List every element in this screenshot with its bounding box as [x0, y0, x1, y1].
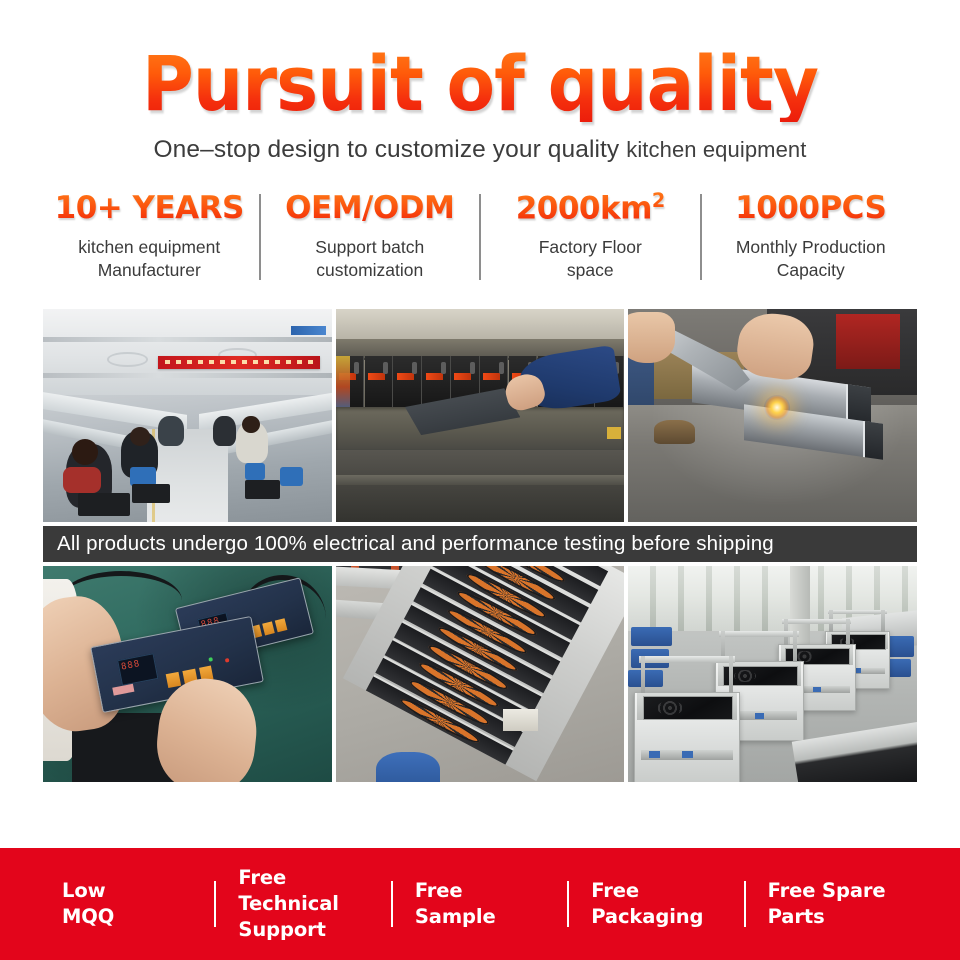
machine-indicator	[607, 427, 621, 440]
stool	[245, 463, 265, 480]
benefit-line1: Free Technical	[238, 865, 390, 918]
stat-desc-line2: Capacity	[708, 259, 915, 282]
benefit-free-packaging[interactable]: Free Packaging	[569, 878, 743, 931]
stat-value-factory-area: 2000km2	[487, 190, 694, 227]
blue-crate	[628, 670, 663, 687]
stat-desc-line1: Factory Floor	[487, 236, 694, 259]
led-display	[117, 653, 159, 686]
stat-years: 10+ YEARS kitchen equipment Manufacturer	[40, 190, 259, 282]
gallery-caption-banner: All products undergo 100% electrical and…	[43, 526, 917, 562]
indicator-led-green	[209, 658, 214, 663]
stat-factory-area: 2000km2 Factory Floor space	[481, 190, 700, 282]
blue-crate	[631, 627, 671, 646]
photo-row-top	[43, 309, 917, 522]
blue-bin	[376, 752, 440, 782]
ceiling-beam	[43, 337, 332, 342]
ceiling-fan-icon	[107, 352, 149, 367]
benefit-free-technical-support[interactable]: Free Technical Support	[216, 865, 390, 944]
benefit-line1: Free Spare	[768, 878, 920, 904]
machine-base	[336, 450, 625, 522]
benefit-line2: Packaging	[591, 904, 743, 930]
stat-desc-factory-area: Factory Floor space	[487, 236, 694, 283]
worker-head	[242, 416, 259, 433]
stat-value-monthly-capacity: 1000PCS	[708, 190, 915, 227]
induction-cooktop-foreground	[792, 721, 917, 783]
tool-clamp	[393, 356, 421, 407]
shelf-post	[881, 610, 885, 635]
stat-value-superscript: 2	[652, 189, 665, 212]
tool-clamp	[365, 356, 393, 407]
overshelf	[639, 656, 735, 662]
photo-finished-induction-cookers	[628, 566, 917, 782]
photo-row-bottom	[43, 566, 917, 782]
parts-crate	[78, 493, 130, 516]
factory-slogan-banner	[158, 356, 320, 369]
overshelf	[828, 610, 886, 614]
subtitle-tail: kitchen equipment	[626, 137, 806, 162]
worker	[158, 416, 184, 446]
photo-press-brake-bending	[336, 309, 625, 522]
benefit-line1: Low	[62, 878, 214, 904]
worker-head	[72, 439, 98, 465]
worker-head	[130, 427, 150, 446]
shelf-post	[846, 619, 850, 648]
benefit-line2: MQQ	[62, 904, 214, 930]
shelf-post	[641, 656, 645, 696]
stat-desc-monthly-capacity: Monthly Production Capacity	[708, 236, 915, 283]
stat-value-number: 2000km	[516, 190, 652, 226]
shelf-post	[729, 656, 733, 696]
weld-spark	[764, 395, 790, 421]
benefit-line2: Parts	[768, 904, 920, 930]
stat-desc-line2: Manufacturer	[46, 259, 253, 282]
stool	[280, 467, 303, 486]
ceiling-beam	[43, 373, 332, 378]
stat-desc-line1: Support batch	[267, 236, 474, 259]
stat-value-years: 10+ YEARS	[46, 190, 253, 227]
stat-desc-line2: space	[487, 259, 694, 282]
stat-desc-line2: customization	[267, 259, 474, 282]
induction-hob-glass	[643, 696, 732, 720]
benefit-line1: Free	[591, 878, 743, 904]
gallery-caption-text: All products undergo 100% electrical and…	[57, 532, 774, 556]
benefit-free-spare-parts[interactable]: Free Spare Parts	[746, 878, 920, 931]
stats-row: 10+ YEARS kitchen equipment Manufacturer…	[40, 190, 920, 282]
stat-value-oem-odm: OEM/ODM	[267, 190, 474, 227]
carton-box	[503, 709, 538, 731]
stat-oem-odm: OEM/ODM Support batch customization	[261, 190, 480, 282]
parts-crate	[245, 480, 280, 499]
wall-sign	[291, 326, 326, 335]
shelf-post	[793, 631, 797, 665]
benefit-free-sample[interactable]: Free Sample	[393, 878, 567, 931]
photo-welding-steel-tube	[628, 309, 917, 522]
welding-clamp	[654, 420, 694, 443]
benefit-line1: Free	[415, 878, 567, 904]
benefit-low-mqq[interactable]: Low MQQ	[40, 878, 214, 931]
benefit-line2: Sample	[415, 904, 567, 930]
photo-induction-coil-line	[336, 566, 625, 782]
background-red-equipment	[836, 314, 900, 369]
hero-section: Pursuit of quality One–stop design to cu…	[0, 0, 960, 164]
control-strip	[641, 750, 732, 760]
subtitle-main: One–stop design to customize your qualit…	[154, 136, 620, 163]
induction-cooker-unit	[634, 692, 740, 783]
benefits-footer-inner: Low MQQ Free Technical Support Free Samp…	[40, 865, 920, 944]
photo-factory-assembly-line	[43, 309, 332, 522]
ceiling	[43, 309, 332, 394]
benefit-line2: Support	[238, 917, 390, 943]
parts-crate	[132, 484, 170, 503]
stat-desc-oem-odm: Support batch customization	[267, 236, 474, 283]
worker-sleeve	[63, 467, 101, 493]
page-subtitle: One–stop design to customize your qualit…	[0, 136, 960, 164]
overshelf	[782, 619, 851, 624]
overshelf	[719, 631, 799, 636]
stat-desc-years: kitchen equipment Manufacturer	[46, 236, 253, 283]
benefits-footer-bar: Low MQQ Free Technical Support Free Samp…	[0, 848, 960, 960]
welder-hand-left	[628, 312, 674, 363]
worker	[213, 416, 236, 446]
stat-desc-line1: Monthly Production	[708, 236, 915, 259]
photo-control-panel-testing	[43, 566, 332, 782]
page-title: Pursuit of quality	[34, 46, 927, 122]
stat-desc-line1: kitchen equipment	[46, 236, 253, 259]
panel-label	[112, 684, 134, 696]
photo-gallery: All products undergo 100% electrical and…	[43, 309, 917, 782]
induction-hob-glass	[723, 666, 798, 687]
stat-monthly-capacity: 1000PCS Monthly Production Capacity	[702, 190, 921, 282]
